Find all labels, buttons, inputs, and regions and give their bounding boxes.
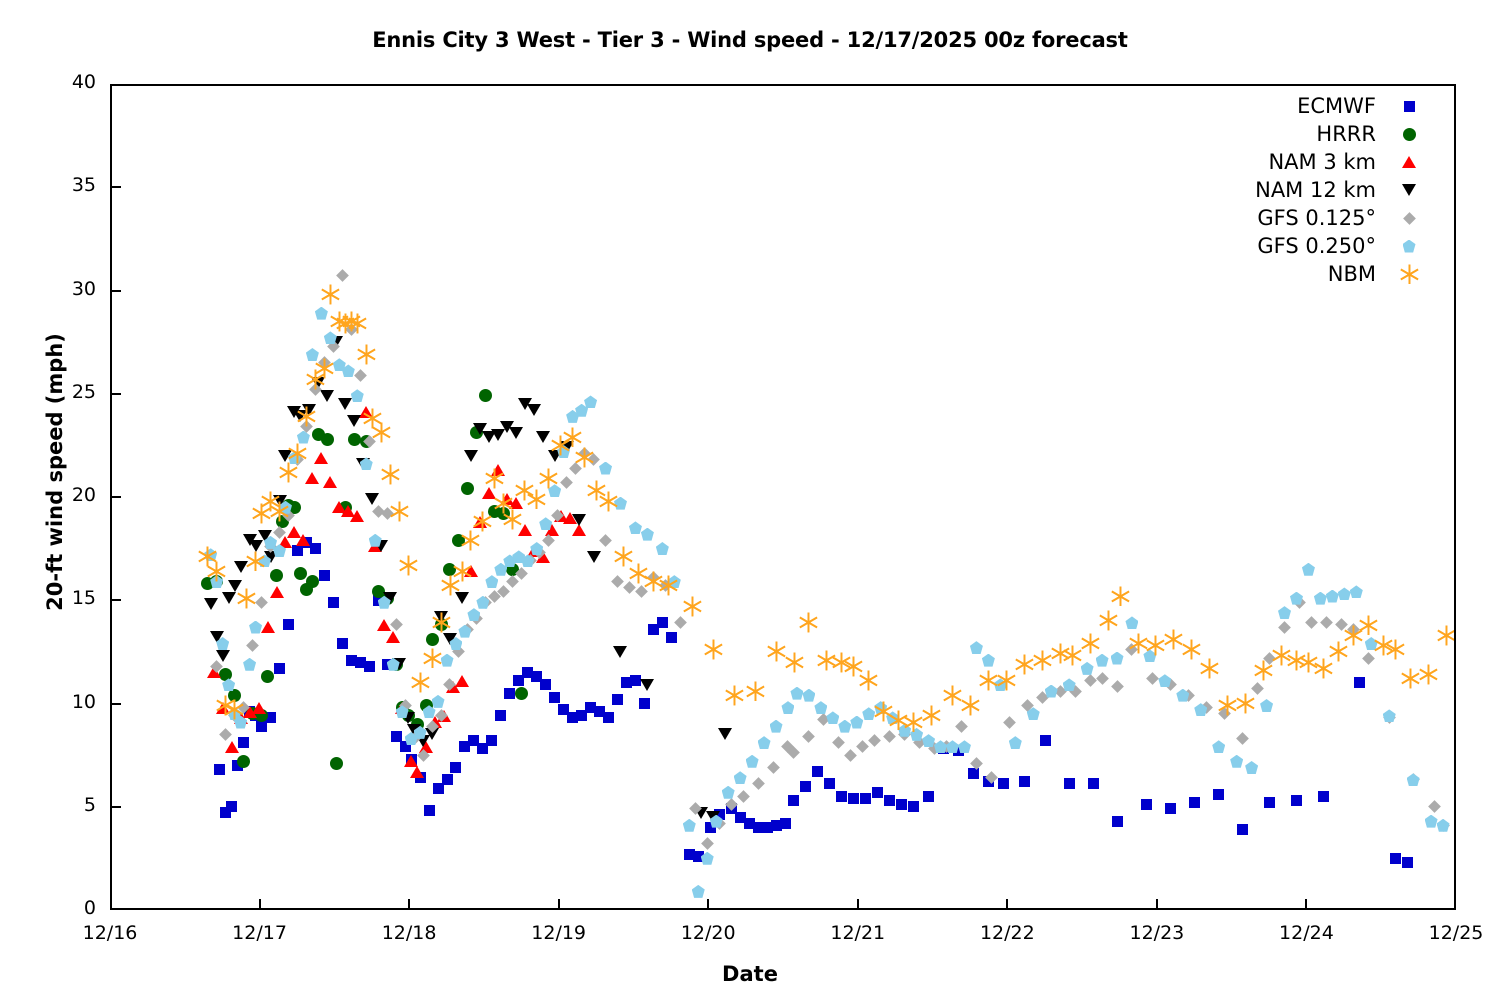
data-point bbox=[1418, 664, 1439, 685]
data-point bbox=[1385, 639, 1406, 660]
data-point bbox=[472, 511, 493, 532]
data-point bbox=[574, 447, 595, 468]
y-axis-tick bbox=[110, 186, 121, 188]
x-axis-tick-label: 12/20 bbox=[648, 922, 768, 944]
legend-item-gfs-0-125[interactable]: GFS 0.125° bbox=[1150, 204, 1420, 232]
data-point bbox=[287, 443, 308, 464]
data-point bbox=[206, 561, 227, 582]
legend-marker-shape bbox=[1402, 156, 1416, 168]
triangle-down-marker-icon bbox=[1398, 179, 1420, 201]
circle-marker-icon bbox=[1398, 123, 1420, 145]
data-point bbox=[921, 705, 942, 726]
legend-item-nam-12-km[interactable]: NAM 12 km bbox=[1150, 176, 1420, 204]
data-point bbox=[320, 284, 341, 305]
data-point bbox=[682, 596, 703, 617]
data-point bbox=[224, 699, 245, 720]
data-point bbox=[784, 652, 805, 673]
data-point bbox=[389, 501, 410, 522]
data-point bbox=[598, 491, 619, 512]
data-point bbox=[422, 648, 443, 669]
data-point bbox=[1436, 625, 1454, 646]
x-axis-tick-label: 12/22 bbox=[947, 922, 1067, 944]
data-point bbox=[798, 612, 819, 633]
data-point bbox=[526, 489, 547, 510]
square-marker-icon bbox=[1398, 95, 1420, 117]
x-axis-tick bbox=[1305, 899, 1307, 910]
legend-label: HRRR bbox=[1316, 122, 1398, 146]
legend-label: NAM 3 km bbox=[1268, 150, 1398, 174]
data-point bbox=[269, 501, 290, 522]
data-point bbox=[236, 588, 257, 609]
legend: ECMWFHRRRNAM 3 kmNAM 12 kmGFS 0.125°GFS … bbox=[1150, 92, 1420, 288]
y-axis-tick bbox=[110, 599, 121, 601]
y-axis-tick bbox=[110, 290, 121, 292]
data-point bbox=[296, 406, 317, 427]
y-axis-tick bbox=[110, 703, 121, 705]
data-point bbox=[371, 422, 392, 443]
x-axis-tick bbox=[558, 899, 560, 910]
x-axis-label: Date bbox=[0, 962, 1500, 986]
x-axis-tick bbox=[259, 899, 261, 910]
pentagon-marker-icon bbox=[1398, 235, 1420, 257]
data-point bbox=[278, 462, 299, 483]
data-point bbox=[460, 530, 481, 551]
x-axis-tick-label: 12/17 bbox=[200, 922, 320, 944]
data-point bbox=[538, 468, 559, 489]
legend-label: ECMWF bbox=[1297, 94, 1398, 118]
legend-marker-shape bbox=[1402, 184, 1416, 196]
asterisk-marker-icon bbox=[1398, 263, 1420, 285]
data-point bbox=[745, 681, 766, 702]
x-axis-tick-label: 12/25 bbox=[1396, 922, 1500, 944]
x-axis-tick-label: 12/18 bbox=[349, 922, 469, 944]
data-point bbox=[858, 670, 879, 691]
legend-marker-shape bbox=[1399, 264, 1420, 285]
legend-item-nam-3-km[interactable]: NAM 3 km bbox=[1150, 148, 1420, 176]
y-axis-tick bbox=[110, 393, 121, 395]
data-point bbox=[1199, 658, 1220, 679]
legend-marker-shape bbox=[1403, 128, 1416, 141]
data-point bbox=[484, 468, 505, 489]
x-axis-tick-label: 12/16 bbox=[50, 922, 170, 944]
data-point bbox=[314, 358, 335, 379]
data-point bbox=[452, 561, 473, 582]
legend-label: NAM 12 km bbox=[1255, 178, 1398, 202]
x-axis-tick-label: 12/19 bbox=[499, 922, 619, 944]
x-axis-tick bbox=[857, 899, 859, 910]
data-point bbox=[398, 555, 419, 576]
data-point bbox=[1110, 586, 1131, 607]
data-point bbox=[1358, 615, 1379, 636]
data-point bbox=[960, 695, 981, 716]
data-point bbox=[724, 685, 745, 706]
x-axis-tick-label: 12/21 bbox=[798, 922, 918, 944]
triangle-up-marker-icon bbox=[1398, 151, 1420, 173]
x-axis-tick-label: 12/23 bbox=[1097, 922, 1217, 944]
x-axis-tick bbox=[408, 899, 410, 910]
legend-item-ecmwf[interactable]: ECMWF bbox=[1150, 92, 1420, 120]
data-point bbox=[562, 427, 583, 448]
legend-item-nbm[interactable]: NBM bbox=[1150, 260, 1420, 288]
x-axis-tick bbox=[1156, 899, 1158, 910]
y-axis-tick bbox=[110, 496, 121, 498]
diamond-marker-icon bbox=[1398, 207, 1420, 229]
data-point bbox=[356, 344, 377, 365]
legend-marker-shape bbox=[1404, 101, 1415, 112]
data-point bbox=[245, 551, 266, 572]
data-point bbox=[410, 672, 431, 693]
legend-label: NBM bbox=[1328, 262, 1398, 286]
legend-item-hrrr[interactable]: HRRR bbox=[1150, 120, 1420, 148]
legend-label: GFS 0.125° bbox=[1257, 206, 1398, 230]
data-point bbox=[347, 313, 368, 334]
legend-item-gfs-0-250[interactable]: GFS 0.250° bbox=[1150, 232, 1420, 260]
y-axis-tick bbox=[110, 806, 121, 808]
legend-marker-shape bbox=[1403, 240, 1416, 253]
data-point bbox=[703, 639, 724, 660]
legend-label: GFS 0.250° bbox=[1257, 234, 1398, 258]
x-axis-tick-label: 12/24 bbox=[1246, 922, 1366, 944]
legend-marker-shape bbox=[1403, 212, 1416, 225]
data-point bbox=[431, 612, 452, 633]
data-point bbox=[658, 575, 679, 596]
data-point bbox=[1098, 610, 1119, 631]
data-point bbox=[1080, 633, 1101, 654]
x-axis-tick bbox=[707, 899, 709, 910]
y-axis-tick-label: 0 bbox=[24, 897, 96, 919]
chart-page: Ennis City 3 West - Tier 3 - Wind speed … bbox=[0, 0, 1500, 1000]
x-axis-tick bbox=[1006, 899, 1008, 910]
data-point bbox=[502, 509, 523, 530]
data-point bbox=[1235, 693, 1256, 714]
y-axis-label: 20-ft wind speed (mph) bbox=[43, 62, 67, 882]
data-point bbox=[380, 464, 401, 485]
chart-title: Ennis City 3 West - Tier 3 - Wind speed … bbox=[0, 28, 1500, 52]
